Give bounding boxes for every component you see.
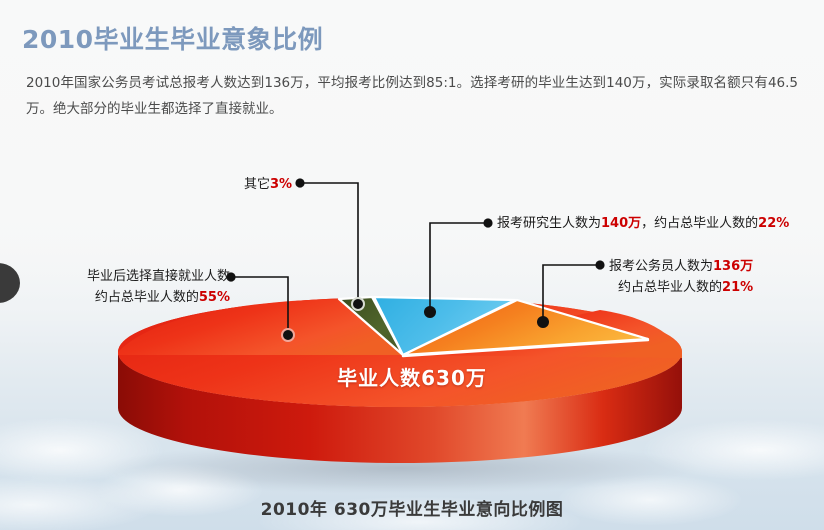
callout-civil: 报考公务员人数为136万 约占总毕业人数的21% bbox=[609, 256, 753, 298]
leader-line-other bbox=[295, 178, 364, 310]
callout-graduate-value: 140万 bbox=[601, 216, 641, 231]
chart-caption: 2010年 630万毕业生毕业意向比例图 bbox=[0, 495, 824, 520]
callout-employment-percent: 55% bbox=[199, 290, 230, 305]
callout-civil-value: 136万 bbox=[713, 259, 753, 274]
callout-other-text: 其它 bbox=[244, 177, 270, 192]
callout-employment: 毕业后选择直接就业人数 约占总毕业人数的55% bbox=[58, 266, 230, 308]
slide-canvas: 2010毕业生毕业意象比例 2010年国家公务员考试总报考人数达到136万，平均… bbox=[0, 0, 824, 530]
callout-graduate: 报考研究生人数为140万，约占总毕业人数的22% bbox=[497, 213, 789, 234]
callout-graduate-percent: 22% bbox=[758, 216, 789, 231]
callout-graduate-prefix: 报考研究生人数为 bbox=[497, 216, 601, 231]
callout-civil-percent: 21% bbox=[722, 280, 753, 295]
callout-civil-line2-prefix: 约占总毕业人数的 bbox=[618, 280, 722, 295]
callout-other-value: 3% bbox=[270, 177, 292, 192]
callout-other: 其它3% bbox=[244, 174, 292, 195]
callout-graduate-middle: ，约占总毕业人数的 bbox=[641, 216, 758, 231]
callout-employment-line1: 毕业后选择直接就业人数 bbox=[58, 266, 230, 287]
callout-civil-line1: 报考公务员人数为136万 bbox=[609, 256, 753, 277]
callout-employment-line2: 约占总毕业人数的55% bbox=[58, 287, 230, 308]
callout-civil-line2: 约占总毕业人数的21% bbox=[609, 277, 753, 298]
callout-civil-line1-prefix: 报考公务员人数为 bbox=[609, 259, 713, 274]
callout-employment-line2-prefix: 约占总毕业人数的 bbox=[95, 290, 199, 305]
